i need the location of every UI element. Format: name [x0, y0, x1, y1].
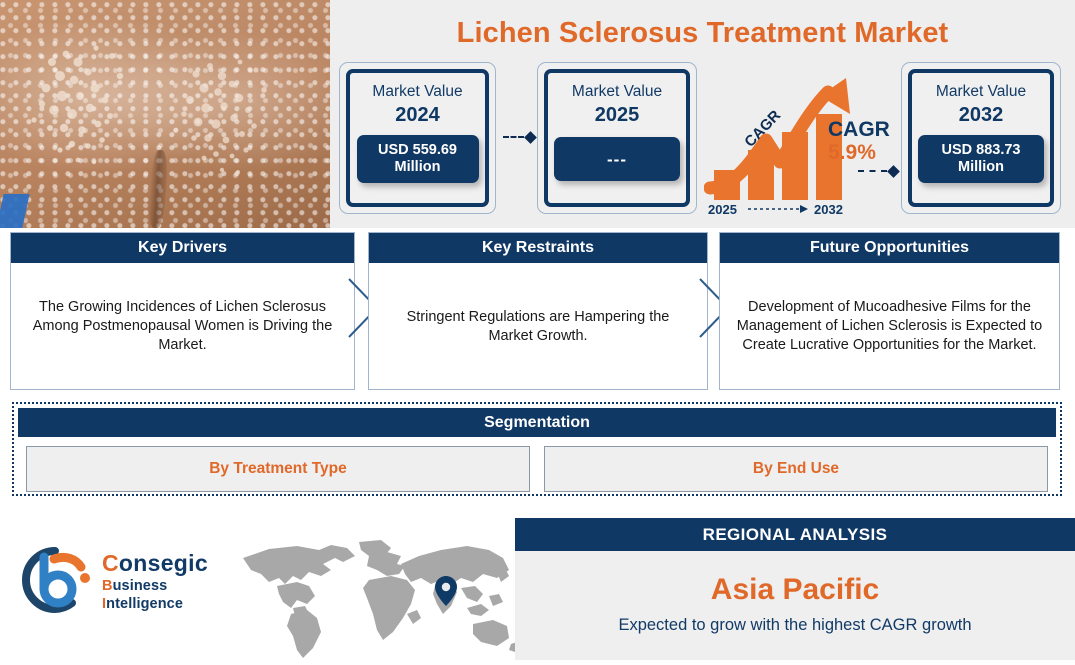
- market-value-year: 2032: [959, 103, 1004, 127]
- logo-brand-rest: onsegic: [119, 550, 208, 576]
- panel-key-drivers: Key Drivers The Growing Incidences of Li…: [10, 232, 355, 390]
- market-value-amount: ---: [554, 137, 680, 181]
- regional-analysis-region: Asia Pacific: [515, 573, 1075, 607]
- segmentation-section: Segmentation By Treatment Type By End Us…: [12, 402, 1062, 496]
- cagr-percent: 5.9%: [828, 141, 900, 164]
- panel-text: The Growing Incidences of Lichen Scleros…: [11, 263, 354, 390]
- cagr-start-year: 2025: [708, 202, 737, 216]
- market-value-card-2025: Market Value 2025 ---: [537, 62, 697, 214]
- panel-text: Development of Mucoadhesive Films for th…: [720, 263, 1059, 390]
- regional-analysis-note: Expected to grow with the highest CAGR g…: [515, 616, 1075, 635]
- segmentation-row: By Treatment Type By End Use: [18, 446, 1056, 492]
- segment-by-treatment-type[interactable]: By Treatment Type: [26, 446, 530, 492]
- consegic-mark-icon: [14, 545, 96, 615]
- market-value-label: Market Value: [372, 82, 462, 102]
- cagr-title: CAGR: [828, 118, 900, 141]
- panel-text: Stringent Regulations are Hampering the …: [369, 263, 707, 390]
- logo-tag-business: usiness: [113, 578, 168, 594]
- logo-brand-initial: C: [102, 550, 119, 576]
- panel-heading: Key Restraints: [369, 233, 707, 263]
- market-value-label: Market Value: [936, 82, 1026, 102]
- logo-tag-intelligence: ntelligence: [106, 596, 183, 612]
- market-value-card-2024: Market Value 2024 USD 559.69 Million: [339, 62, 496, 214]
- regional-analysis-heading: REGIONAL ANALYSIS: [515, 518, 1075, 551]
- company-logo: Consegic Business Intelligence: [14, 545, 229, 617]
- cagr-value-block: CAGR 5.9%: [828, 118, 900, 164]
- logo-tagline: Business Intelligence: [102, 577, 229, 613]
- world-map: [235, 536, 515, 660]
- segment-by-end-use[interactable]: By End Use: [544, 446, 1048, 492]
- infographic-page: Lichen Sclerosus Treatment Market Market…: [0, 0, 1075, 660]
- market-value-label: Market Value: [572, 82, 662, 102]
- market-value-amount: USD 883.73 Million: [918, 135, 1044, 183]
- map-landmasses: [243, 540, 515, 658]
- year-span-arrowhead: [800, 205, 808, 213]
- regional-analysis-section: REGIONAL ANALYSIS Asia Pacific Expected …: [515, 518, 1075, 660]
- growth-arrow-head: [820, 78, 850, 114]
- market-value-amount: USD 559.69 Million: [357, 135, 479, 183]
- market-value-year: 2025: [595, 103, 640, 127]
- panel-heading: Key Drivers: [11, 233, 354, 263]
- panel-heading: Future Opportunities: [720, 233, 1059, 263]
- market-value-year: 2024: [395, 103, 440, 127]
- logo-tag-b: B: [102, 578, 113, 594]
- market-value-card-2032: Market Value 2032 USD 883.73 Million: [901, 62, 1061, 214]
- lichen-sclerosus-skin-photo: [0, 0, 330, 228]
- logo-brand-name: Consegic: [102, 550, 229, 577]
- connector-2024-2025: [503, 136, 535, 138]
- panel-future-opportunities: Future Opportunities Development of Muco…: [719, 232, 1060, 390]
- logo-wordmark: Consegic Business Intelligence: [102, 550, 229, 613]
- world-map-svg: [235, 536, 515, 660]
- connector-cagr-2032: [858, 170, 898, 172]
- panel-key-restraints: Key Restraints Stringent Regulations are…: [368, 232, 708, 390]
- segmentation-heading: Segmentation: [18, 408, 1056, 437]
- dashed-line: [858, 170, 887, 172]
- dashed-line: [503, 136, 524, 138]
- cagr-end-year: 2032: [814, 202, 843, 216]
- page-title: Lichen Sclerosus Treatment Market: [330, 10, 1075, 56]
- papule-cluster-overlay: [0, 0, 330, 228]
